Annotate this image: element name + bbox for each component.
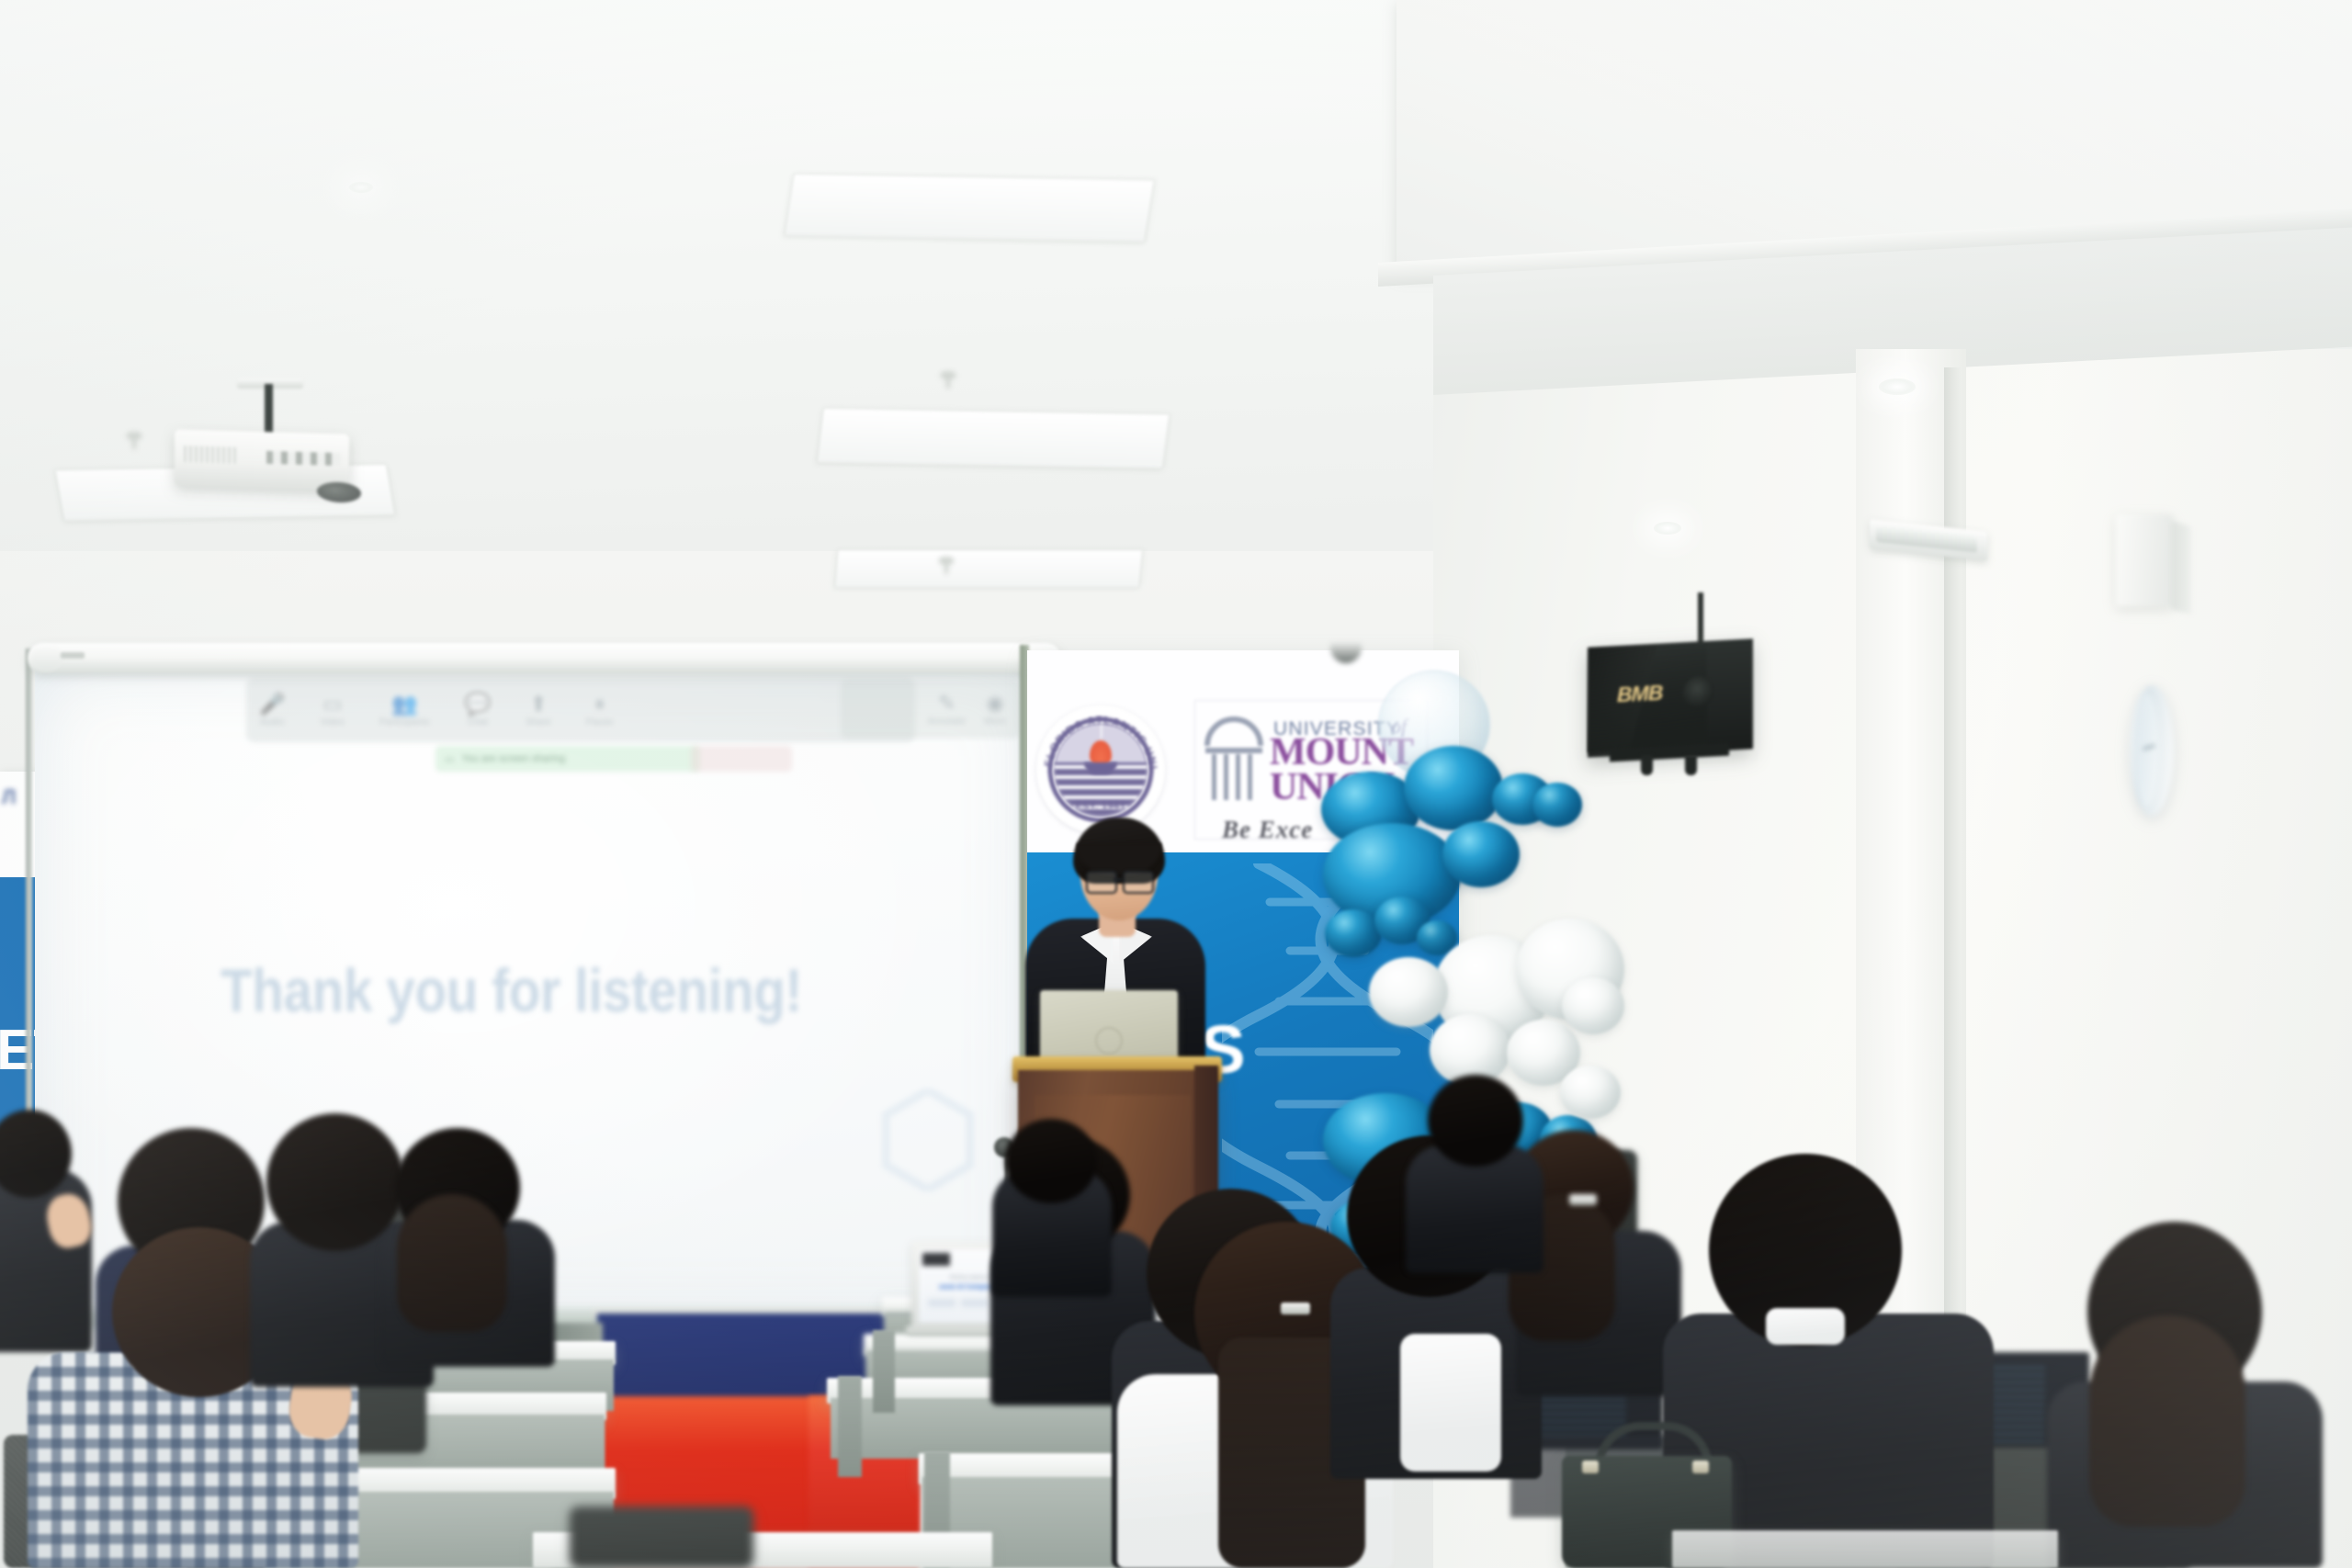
share-screen-icon: ⬆ bbox=[530, 694, 548, 715]
screen-share-icon: ▭ bbox=[445, 753, 454, 765]
projector-vent bbox=[184, 446, 237, 464]
eyeglasses-left-lens bbox=[1086, 871, 1117, 894]
ceiling-light-panel bbox=[817, 408, 1170, 469]
microphone-icon: 🎤 bbox=[259, 694, 286, 715]
audience-person-head bbox=[1428, 1075, 1523, 1167]
hp-logo-icon bbox=[1095, 1027, 1123, 1055]
toolbar-more-label: More bbox=[984, 716, 1006, 727]
balloon-teal bbox=[1325, 909, 1382, 957]
bmb-logo: BMB bbox=[1617, 681, 1662, 708]
participants-icon: 👥 bbox=[391, 694, 418, 715]
eyeglasses-right-lens bbox=[1123, 871, 1154, 894]
hexagon-watermark bbox=[882, 1089, 974, 1191]
sprinkler-head bbox=[127, 432, 141, 440]
recessed-downlight bbox=[349, 182, 373, 193]
toolbar-audio[interactable]: 🎤 Audio bbox=[259, 694, 286, 728]
wall-mounted-speaker bbox=[2116, 514, 2173, 606]
hair-clip bbox=[1569, 1194, 1597, 1205]
toolbar-audio-label: Audio bbox=[260, 717, 285, 728]
camera-icon: ▭ bbox=[322, 694, 343, 715]
zoom-ai-button[interactable] bbox=[961, 1299, 989, 1307]
desk-divider bbox=[838, 1376, 862, 1477]
toolbar-share-label: Share bbox=[526, 717, 551, 728]
wall-clock-face bbox=[2135, 694, 2159, 807]
slide-headline: Thank you for listening! bbox=[220, 955, 774, 1025]
wall-corner-shadow bbox=[1944, 367, 1961, 1424]
screen-share-text: You are screen sharing bbox=[461, 753, 565, 764]
hair-clip bbox=[1281, 1303, 1310, 1314]
toolbar-pause-label: Pause bbox=[586, 717, 613, 728]
fau-seal-ring-text: FLORIDA ATLANTIC UNIVERSITY bbox=[1036, 705, 1165, 834]
fau-seal-established: EST. 1961 bbox=[1058, 801, 1143, 812]
desk-foreground bbox=[1672, 1530, 2058, 1568]
projector-screen-roller bbox=[28, 643, 1061, 673]
recessed-downlight bbox=[1879, 378, 1916, 395]
toolbar-share[interactable]: ⬆ Share bbox=[526, 694, 551, 728]
desk-divider bbox=[873, 1330, 895, 1413]
eyeglasses-bridge bbox=[1114, 878, 1123, 881]
annotate-icon: ✎ bbox=[938, 693, 955, 714]
toolbar-participants-label: Participants bbox=[379, 717, 430, 728]
meeting-toolbar-right[interactable]: ✎ Annotate ◉ More bbox=[841, 680, 1021, 739]
toolbar-video-label: Video bbox=[321, 717, 345, 728]
ceiling-light-panel bbox=[834, 549, 1143, 588]
screen-roller-cap bbox=[31, 645, 62, 671]
audience-person-collar bbox=[1766, 1308, 1845, 1345]
zoom-ai-subtitle: Meeting mapping with bbox=[950, 1275, 995, 1280]
screen-roller-badge bbox=[61, 652, 85, 659]
ceiling-light-panel bbox=[784, 174, 1155, 243]
lecture-hall-photo: Л ET 🎤 Audio ▭ Video 👥 Participants 💬 Ch… bbox=[0, 0, 2352, 1568]
pause-icon: ⏸ bbox=[594, 694, 605, 715]
projector-mount-rod bbox=[265, 384, 273, 437]
svg-text:FLORIDA ATLANTIC UNIVERSITY: FLORIDA ATLANTIC UNIVERSITY bbox=[1036, 705, 1159, 771]
handbag-clasp bbox=[1582, 1461, 1599, 1473]
toolbar-chat-label: Chat bbox=[468, 717, 488, 728]
mount-union-tagline: Be Exce bbox=[1222, 816, 1313, 844]
stop-share-button[interactable] bbox=[691, 746, 792, 772]
chair-foreground bbox=[570, 1506, 753, 1568]
zoom-ai-button[interactable] bbox=[928, 1299, 955, 1307]
mount-union-arch-icon bbox=[1204, 715, 1264, 803]
toolbar-video[interactable]: ▭ Video bbox=[321, 694, 345, 728]
toolbar-pause[interactable]: ⏸ Pause bbox=[586, 694, 613, 728]
speaker-foot bbox=[1685, 755, 1697, 775]
chat-icon: 💬 bbox=[465, 694, 492, 715]
speaker-mount-rod bbox=[1698, 592, 1703, 646]
balloon-teal bbox=[1532, 783, 1582, 827]
toolbar-more[interactable]: ◉ More bbox=[984, 693, 1006, 727]
audience-person-hair-long bbox=[2089, 1315, 2245, 1527]
more-icon: ◉ bbox=[986, 693, 1004, 714]
audience-person-hair-long bbox=[397, 1194, 507, 1332]
audience-person-head bbox=[1005, 1119, 1097, 1203]
sprinkler-head bbox=[941, 371, 955, 379]
projector-ports bbox=[266, 451, 340, 466]
toolbar-annotate[interactable]: ✎ Annotate bbox=[928, 693, 967, 727]
meeting-toolbar[interactable]: 🎤 Audio ▭ Video 👥 Participants 💬 Chat ⬆ … bbox=[246, 678, 915, 742]
toolbar-annotate-label: Annotate bbox=[928, 716, 967, 727]
audience-person-head bbox=[266, 1113, 404, 1251]
balloon-white bbox=[1562, 977, 1624, 1034]
zoom-ai-header-tile bbox=[922, 1253, 950, 1266]
recessed-downlight bbox=[1654, 522, 1681, 535]
speaker-foot bbox=[1641, 755, 1653, 775]
toolbar-chat[interactable]: 💬 Chat bbox=[465, 694, 492, 728]
balloon-white bbox=[1369, 957, 1448, 1027]
wall-speaker-side bbox=[2171, 521, 2191, 614]
audience-person-shirt bbox=[1400, 1334, 1501, 1472]
left-banner-mark: Л bbox=[2, 785, 16, 809]
sprinkler-head bbox=[939, 557, 954, 565]
handbag-clasp bbox=[1692, 1461, 1709, 1473]
balloon-white bbox=[1560, 1066, 1621, 1119]
toolbar-participants[interactable]: 👥 Participants bbox=[379, 694, 430, 728]
screen-share-banner: ▭ You are screen sharing bbox=[435, 746, 700, 772]
